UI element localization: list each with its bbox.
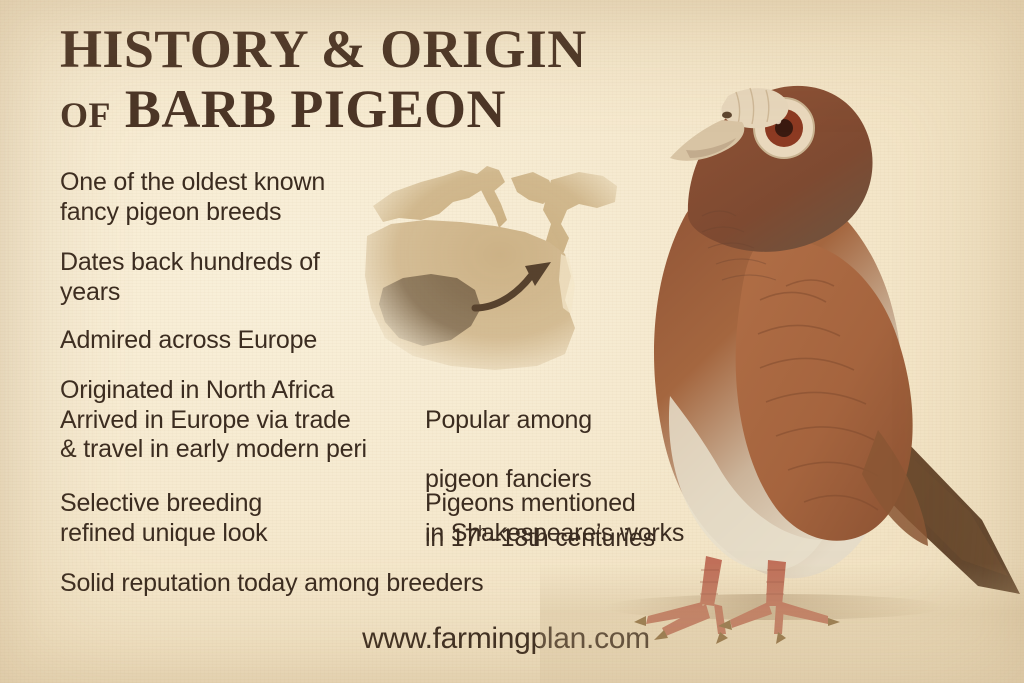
title-line-2: OF BARB PIGEON (60, 82, 660, 137)
fact-origin-trade-line-2: Arrived in Europe via trade (60, 406, 432, 436)
fact-selective-breeding: Selective breeding refined unique look (60, 489, 400, 548)
fact-shakespeare: Pigeons mentioned in Shakespeare’s works (425, 489, 710, 548)
fact-oldest-breed: One of the oldest known fancy pigeon bre… (60, 168, 390, 227)
title-line-1: HISTORY & ORIGIN (60, 22, 660, 77)
title-subject: BARB PIGEON (125, 79, 506, 139)
website-url: www.farmingplan.com (362, 622, 650, 656)
fact-origin-trade: Originated in North Africa Arrived in Eu… (60, 376, 432, 465)
footer: www.farmingplan.com (0, 622, 1024, 656)
fact-admired-europe: Admired across Europe (60, 326, 390, 356)
page-title: HISTORY & ORIGIN OF BARB PIGEON (60, 22, 660, 137)
fact-origin-trade-line-3: & travel in early modern peri (60, 435, 432, 465)
poster-canvas: HISTORY & ORIGIN OF BARB PIGEON One of t… (0, 0, 1024, 683)
fact-dates-back: Dates back hundreds of years (60, 248, 390, 307)
fact-origin-trade-line-1: Originated in North Africa (60, 376, 432, 406)
fact-pigeon-fanciers: Popular among pigeon fanciers in 17h–18t… (425, 376, 675, 583)
map-landmasses (365, 166, 617, 370)
title-of-word: OF (60, 95, 111, 135)
fact-pigeon-fanciers-line-1: Popular among (425, 406, 675, 436)
bird-nostril (722, 112, 732, 119)
